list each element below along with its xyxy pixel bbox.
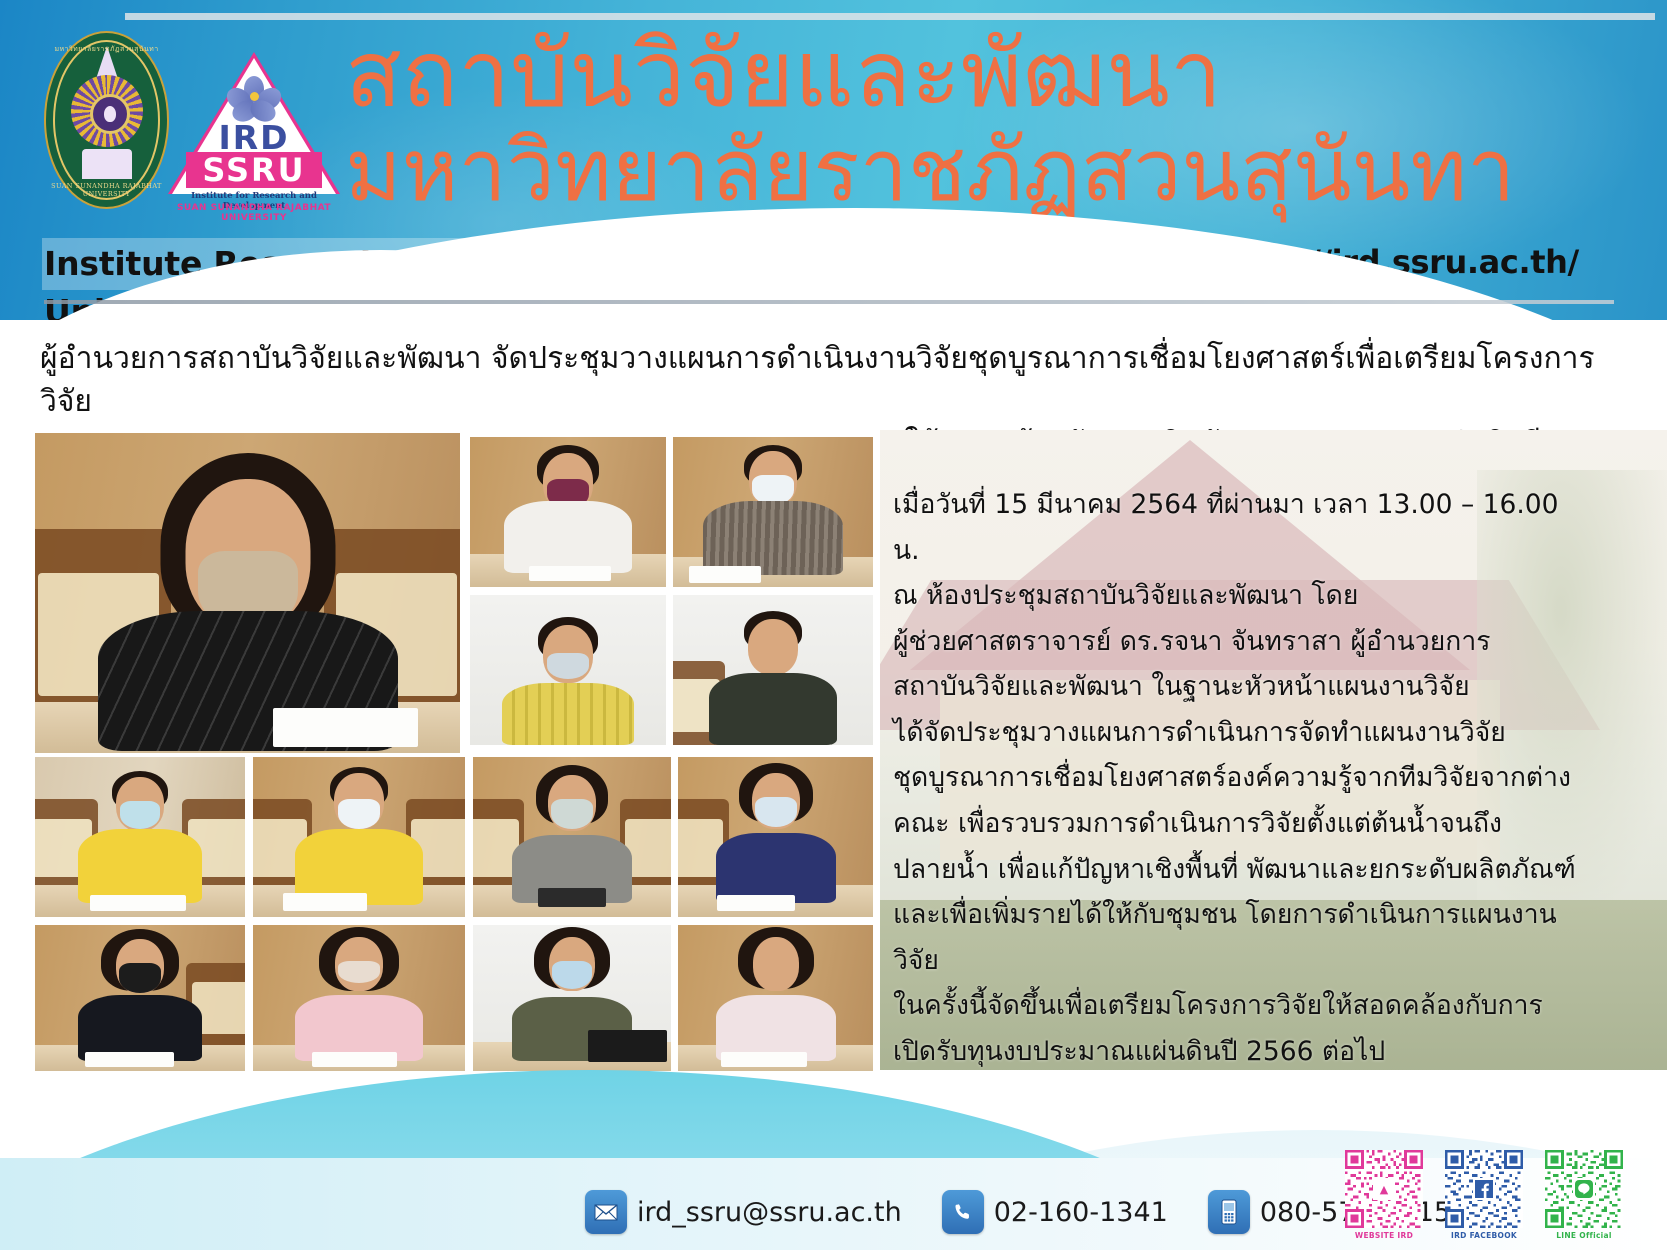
- contact-telephone-value: 02-160-1341: [994, 1197, 1168, 1228]
- qr-line-official-image: [1545, 1150, 1623, 1228]
- contact-email[interactable]: ird_ssru@ssru.ac.th: [585, 1190, 902, 1234]
- photo-collage: [35, 433, 873, 1071]
- flower-icon: [227, 78, 281, 120]
- thai-title-line-1: สถาบันวิจัยและพัฒนา: [345, 32, 1645, 118]
- body-paragraph-line-2: ณ ห้องประชุมสถาบันวิจัยและพัฒนา โดย: [893, 573, 1593, 619]
- header-banner: มหาวิทยาลัยราชภัฏสวนสุนันทา SUAN SUNANDH…: [0, 0, 1667, 320]
- photo-woman-navy-blazer: [678, 757, 873, 917]
- email-icon: [585, 1190, 627, 1234]
- contact-list: ird_ssru@ssru.ac.th 02-160-1341: [585, 1190, 1451, 1234]
- body-paragraph-line-9: และเพื่อเพิ่มรายได้ให้กับชุมชน โดยการดำเ…: [893, 892, 1593, 983]
- body-paragraph-line-5: ได้จัดประชุมวางแผนการดำเนินการจัดทำแผนงา…: [893, 710, 1593, 756]
- line-icon: [1573, 1178, 1595, 1200]
- body-paragraph-line-4: สถาบันวิจัยและพัฒนา ในฐานะหัวหน้าแผนงานว…: [893, 664, 1593, 710]
- thai-title-line-2: มหาวิทยาลัยราชภัฏสวนสุนันทา: [345, 132, 1645, 211]
- photo-man-yellow-polo-right: [253, 757, 465, 917]
- body-paragraph-line-1: เมื่อวันที่ 15 มีนาคม 2564 ที่ผ่านมา เวล…: [893, 482, 1593, 573]
- facebook-icon: [1473, 1178, 1495, 1200]
- body-paragraph-line-3: ผู้ช่วยศาสตราจารย์ ดร.รจนา จันทราสา ผู้อ…: [893, 619, 1593, 665]
- ssru-university-seal-icon: มหาวิทยาลัยราชภัฏสวนสุนันทา SUAN SUNANDH…: [44, 31, 169, 209]
- seal-text-top: มหาวิทยาลัยราชภัฏสวนสุนันทา: [44, 44, 169, 55]
- body-paragraph-line-6: ชุดบูรณาการเชื่อมโยงศาสตร์องค์ความรู้จาก…: [893, 755, 1593, 801]
- body-paragraph-line-8: ปลายน้ำ เพื่อแก้ปัญหาเชิงพื้นที่ พัฒนาแล…: [893, 847, 1593, 893]
- telephone-icon: [942, 1190, 984, 1234]
- seal-text-bottom: SUAN SUNANDHA RAJABHAT UNIVERSITY: [44, 182, 169, 198]
- contact-email-value: ird_ssru@ssru.ac.th: [637, 1197, 902, 1228]
- qr-ird-facebook-label: IRD FACEBOOK: [1451, 1231, 1517, 1240]
- qr-ird-facebook[interactable]: IRD FACEBOOK: [1445, 1150, 1523, 1240]
- qr-ird-facebook-image: [1445, 1150, 1523, 1228]
- photo-woman-grey-top-tablet: [473, 757, 671, 917]
- photo-man-maroon-mask: [470, 437, 666, 587]
- qr-line-official[interactable]: LINE Official: [1545, 1150, 1623, 1240]
- photo-young-man-dark-shirt: [673, 595, 873, 745]
- photo-man-yellow-polo-left: [35, 757, 245, 917]
- qr-website-ird[interactable]: ▲ WEBSITE IRD: [1345, 1150, 1423, 1240]
- ird-ssru-triangle-logo-icon: IRD SSRU Institute for Research and Deve…: [168, 52, 340, 210]
- contact-telephone[interactable]: 02-160-1341: [942, 1190, 1168, 1234]
- qr-code-group: ▲ WEBSITE IRD: [1345, 1150, 1623, 1240]
- body-paragraph: เมื่อวันที่ 15 มีนาคม 2564 ที่ผ่านมา เวล…: [893, 482, 1593, 1075]
- qr-website-ird-label: WEBSITE IRD: [1355, 1231, 1413, 1240]
- ird-logo-ssru-text: SSRU: [168, 152, 340, 188]
- poster-root: มหาวิทยาลัยราชภัฏสวนสุนันทา SUAN SUNANDH…: [0, 0, 1667, 1250]
- header-top-rule: [125, 13, 1655, 20]
- qr-website-ird-center-logo: ▲: [1373, 1178, 1395, 1200]
- header-bottom-rule: [44, 300, 1614, 304]
- photo-man-glasses-striped-shirt: [673, 437, 873, 587]
- qr-line-official-label: LINE Official: [1556, 1231, 1612, 1240]
- ird-logo-university: SUAN SUNANDHA RAJABHAT UNIVERSITY: [146, 203, 362, 223]
- photo-man-yellow-plaid-shirt: [470, 595, 666, 745]
- body-paragraph-line-10: ในครั้งนี้จัดขึ้นเพื่อเตรียมโครงการวิจัย…: [893, 983, 1593, 1029]
- photo-director-woman-writing: [35, 433, 460, 753]
- body-paragraph-line-7: คณะ เพื่อรวบรวมการดำเนินการวิจัยตั้งแต่ต…: [893, 801, 1593, 847]
- qr-website-ird-image: ▲: [1345, 1150, 1423, 1228]
- mobile-phone-icon: [1208, 1190, 1250, 1234]
- headline-line-1: ผู้อำนวยการสถาบันวิจัยและพัฒนา จัดประชุม…: [40, 338, 1630, 423]
